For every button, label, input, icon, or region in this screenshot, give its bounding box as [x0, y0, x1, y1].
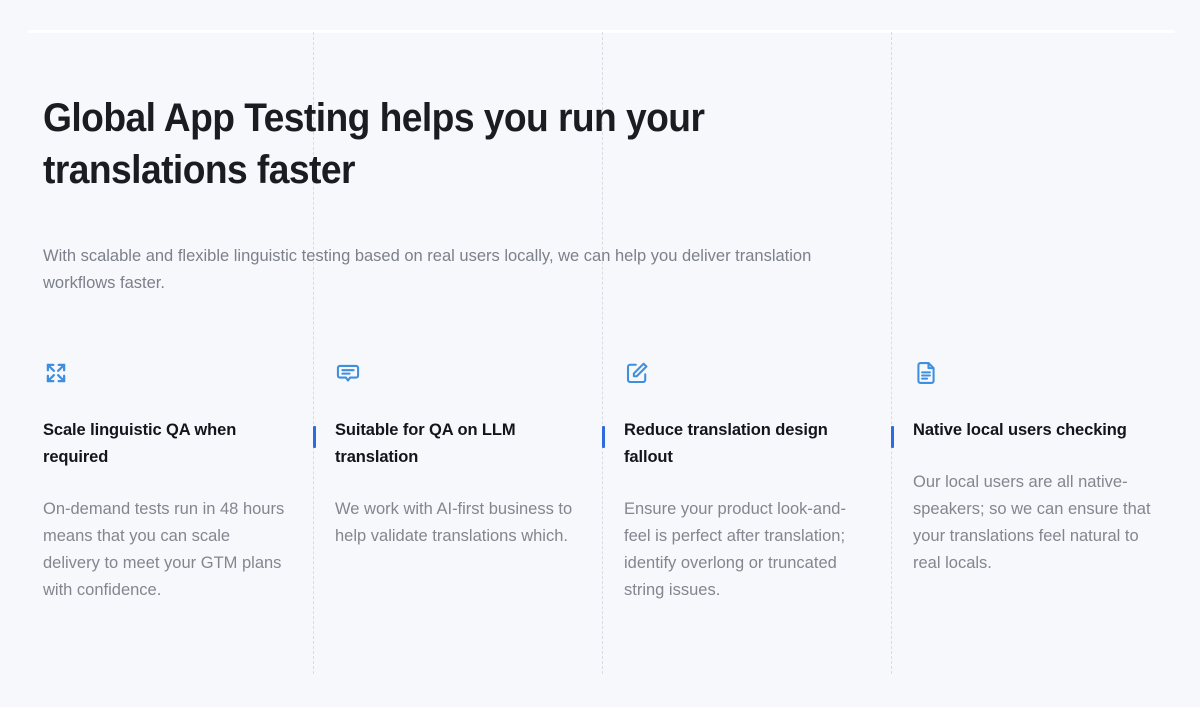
speech-bubble-icon — [335, 360, 361, 386]
edit-square-icon — [624, 360, 650, 386]
feature-column-3: Reduce translation design fallout Ensure… — [602, 360, 891, 604]
feature-column-list: Scale linguistic QA when required On-dem… — [0, 360, 1200, 604]
accent-bar — [602, 426, 605, 448]
document-icon — [913, 360, 939, 386]
feature-column-1: Scale linguistic QA when required On-dem… — [0, 360, 313, 604]
feature-title: Reduce translation design fallout — [624, 417, 863, 471]
feature-section: Global App Testing helps you run your tr… — [0, 0, 1200, 707]
feature-body: Ensure your product look-and-feel is per… — [624, 496, 863, 604]
feature-body: We work with AI-first business to help v… — [335, 496, 574, 550]
maximize-icon — [43, 360, 69, 386]
accent-bar — [891, 426, 894, 448]
accent-bar — [313, 426, 316, 448]
feature-title: Native local users checking — [913, 417, 1152, 444]
section-heading: Global App Testing helps you run your tr… — [43, 92, 750, 196]
feature-title: Scale linguistic QA when required — [43, 417, 285, 471]
section-subheading: With scalable and flexible linguistic te… — [43, 243, 873, 297]
feature-column-2: Suitable for QA on LLM translation We wo… — [313, 360, 602, 604]
feature-body: Our local users are all native-speakers;… — [913, 469, 1152, 577]
feature-title: Suitable for QA on LLM translation — [335, 417, 574, 471]
feature-body: On-demand tests run in 48 hours means th… — [43, 496, 285, 604]
feature-column-4: Native local users checking Our local us… — [891, 360, 1180, 604]
